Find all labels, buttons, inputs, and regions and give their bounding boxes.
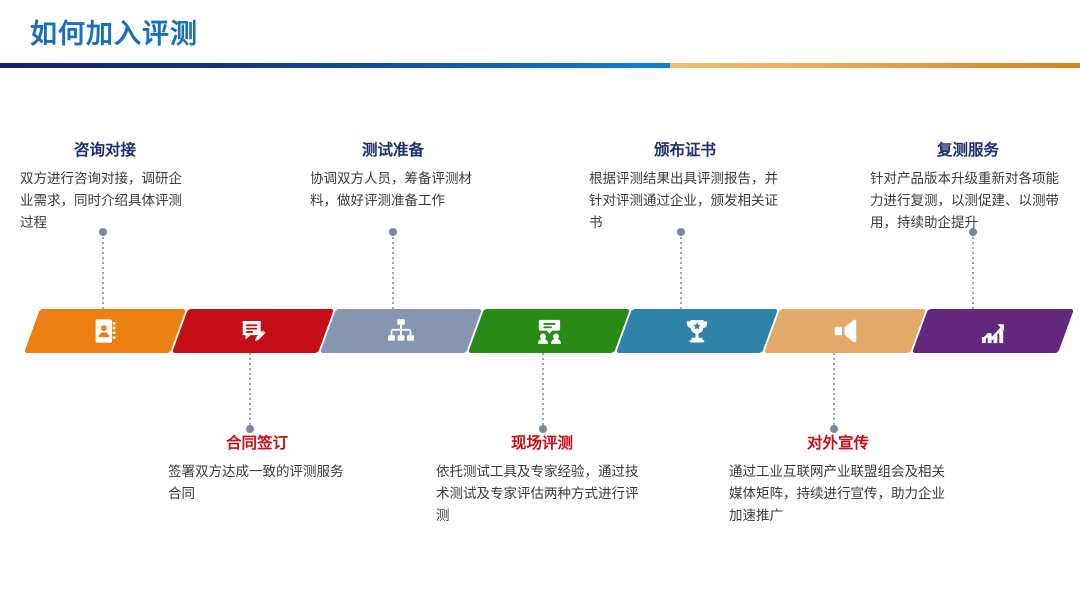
- callout-heading: 对外宣传: [729, 431, 947, 453]
- connector-step-7: [972, 232, 974, 310]
- chevron-step-5[interactable]: [616, 309, 778, 353]
- connector-line: [542, 353, 544, 429]
- callout-step-1: 咨询对接 双方进行咨询对接，调研企业需求，同时介绍具体评测过程: [20, 138, 190, 234]
- callout-heading: 复测服务: [870, 138, 1066, 160]
- callout-body: 依托测试工具及专家经验，通过技术测试及专家评估两种方式进行评测: [436, 461, 648, 527]
- title-divider: [0, 63, 1080, 68]
- address-book-icon: [88, 314, 122, 348]
- connector-line: [102, 232, 104, 310]
- callout-step-6: 对外宣传 通过工业互联网产业联盟组会及相关媒体矩阵，持续进行宣传，助力企业加速推…: [729, 431, 947, 527]
- connector-line: [972, 232, 974, 310]
- connector-line: [392, 232, 394, 310]
- org-chart-icon: [384, 314, 418, 348]
- divider-blue-segment: [0, 63, 670, 68]
- connector-line: [249, 353, 251, 429]
- chevron-step-4[interactable]: [468, 309, 630, 353]
- connector-line: [680, 232, 682, 310]
- people-meeting-icon: [532, 314, 566, 348]
- process-chevron-band: [0, 309, 1080, 353]
- connector-step-5: [680, 232, 682, 310]
- callout-step-7: 复测服务 针对产品版本升级重新对各项能力进行复测，以测促建、以测带用，持续助企提…: [870, 138, 1066, 234]
- chevron-step-1[interactable]: [24, 309, 186, 353]
- callout-step-3: 测试准备 协调双方人员，筹备评测材料，做好评测准备工作: [310, 138, 476, 212]
- callout-body: 协调双方人员，筹备评测材料，做好评测准备工作: [310, 168, 476, 212]
- connector-step-4: [542, 353, 544, 429]
- callout-body: 双方进行咨询对接，调研企业需求，同时介绍具体评测过程: [20, 168, 190, 234]
- chevron-step-3[interactable]: [320, 309, 482, 353]
- callout-step-5: 颁布证书 根据评测结果出具评测报告，并针对评测通过企业，颁发相关证书: [589, 138, 781, 234]
- connector-step-1: [102, 232, 104, 310]
- callout-body: 通过工业互联网产业联盟组会及相关媒体矩阵，持续进行宣传，助力企业加速推广: [729, 461, 947, 527]
- callout-step-2: 合同签订 签署双方达成一致的评测服务合同: [168, 431, 346, 505]
- connector-step-6: [833, 353, 835, 429]
- chevron-step-7[interactable]: [912, 309, 1074, 353]
- chevron-step-6[interactable]: [764, 309, 926, 353]
- callout-step-4: 现场评测 依托测试工具及专家经验，通过技术测试及专家评估两种方式进行评测: [436, 431, 648, 527]
- callout-heading: 测试准备: [310, 138, 476, 160]
- connector-line: [833, 353, 835, 429]
- callout-heading: 咨询对接: [20, 138, 190, 160]
- callout-heading: 颁布证书: [589, 138, 781, 160]
- connector-step-3: [392, 232, 394, 310]
- callout-heading: 现场评测: [436, 431, 648, 453]
- megaphone-icon: [828, 314, 862, 348]
- page-title: 如何加入评测: [30, 12, 198, 51]
- chevron-step-2[interactable]: [172, 309, 334, 353]
- connector-step-2: [249, 353, 251, 429]
- divider-orange-segment: [670, 63, 1080, 68]
- trophy-icon: [680, 314, 714, 348]
- callout-body: 签署双方达成一致的评测服务合同: [168, 461, 346, 505]
- connector-dot: [389, 228, 397, 236]
- callout-heading: 合同签订: [168, 431, 346, 453]
- signed-document-icon: [236, 314, 270, 348]
- growth-chart-icon: [976, 314, 1010, 348]
- callout-body: 针对产品版本升级重新对各项能力进行复测，以测促建、以测带用，持续助企提升: [870, 168, 1066, 234]
- callout-body: 根据评测结果出具评测报告，并针对评测通过企业，颁发相关证书: [589, 168, 781, 234]
